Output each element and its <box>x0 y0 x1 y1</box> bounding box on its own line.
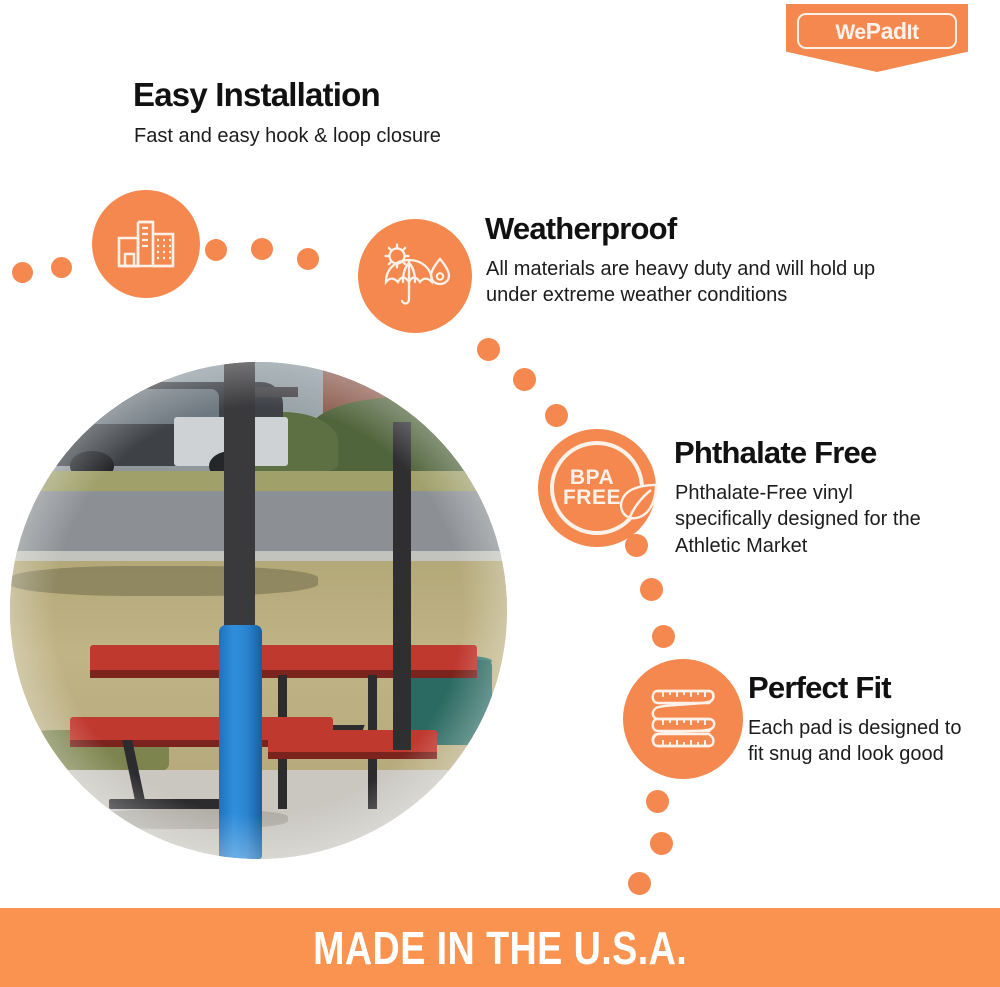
product-infographic: WePadIt Easy Installation Fast and easy … <box>0 0 1000 987</box>
feature-title-perfect-fit: Perfect Fit <box>748 672 891 705</box>
photo-picnic-table-top <box>90 645 478 672</box>
brand-logo: WePadIt <box>786 4 968 72</box>
made-in-usa-label: MADE IN THE U.S.A. <box>313 921 687 975</box>
photo-bench-edge <box>268 752 437 759</box>
feature-desc-easy-installation: Fast and easy hook & loop closure <box>134 123 554 149</box>
feature-desc-perfect-fit: Each pad is designed to fit snug and loo… <box>748 715 978 768</box>
trail-dot <box>205 239 227 261</box>
photo-lawn-shadow <box>10 566 318 596</box>
trail-dot <box>628 872 651 895</box>
photo-blue-pole-pad <box>219 625 263 859</box>
feature-title-weatherproof: Weatherproof <box>485 213 676 246</box>
measuring-tape-icon <box>623 659 743 779</box>
trail-dot <box>297 248 319 270</box>
trail-dot <box>652 625 675 648</box>
feature-title-easy-installation: Easy Installation <box>133 78 380 113</box>
feature-title-phthalate-free: Phthalate Free <box>674 437 876 470</box>
building-icon <box>92 190 200 298</box>
bpa-badge-line2: FREE <box>563 488 621 508</box>
logo-text: WePadIt <box>835 20 918 43</box>
product-photo <box>10 362 507 859</box>
trail-dot <box>650 832 673 855</box>
bpa-free-leaf-icon: BPA FREE <box>538 429 656 547</box>
logo-outline-box: WePadIt <box>797 13 957 49</box>
umbrella-sun-rain-icon <box>358 219 472 333</box>
photo-bench-seat <box>268 730 437 755</box>
trail-dot <box>12 262 33 283</box>
logo-text-it: It <box>907 21 919 44</box>
bpa-badge-line1: BPA <box>563 468 621 488</box>
logo-text-we: We <box>835 21 865 44</box>
logo-text-pad: Pad <box>866 18 907 44</box>
photo-main-post <box>224 362 255 645</box>
feature-desc-weatherproof: All materials are heavy duty and will ho… <box>486 256 911 309</box>
trail-dot <box>513 368 536 391</box>
trail-dot <box>640 578 663 601</box>
trail-dot <box>646 790 669 813</box>
trail-dot <box>477 338 500 361</box>
trail-dot <box>545 404 568 427</box>
made-in-usa-banner: MADE IN THE U.S.A. <box>0 908 1000 987</box>
trail-dot <box>51 257 72 278</box>
photo-road <box>10 491 507 556</box>
photo-secondary-post <box>393 422 411 750</box>
bpa-badge-text: BPA FREE <box>563 468 621 508</box>
feature-desc-phthalate-free: Phthalate-Free vinyl specifically design… <box>675 480 940 559</box>
trail-dot <box>251 238 273 260</box>
